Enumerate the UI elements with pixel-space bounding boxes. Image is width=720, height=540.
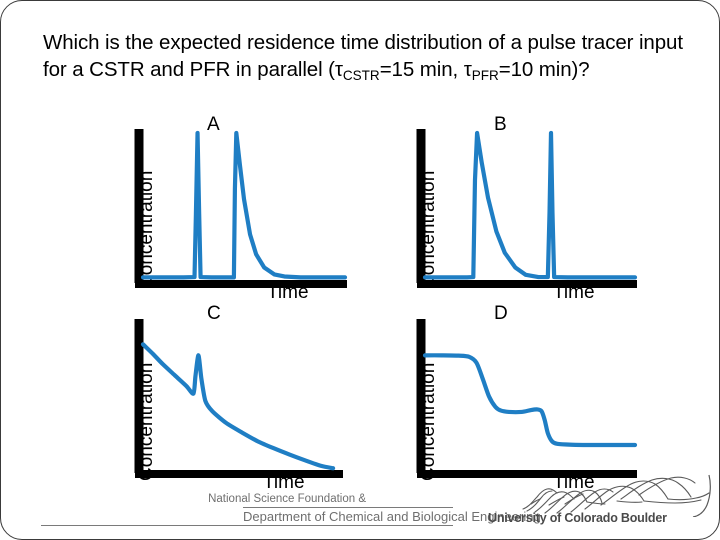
chart-c-svg (133, 317, 349, 483)
footer-rule-bottom (41, 525, 453, 526)
chart-a-curve (143, 133, 345, 277)
chart-b-svg (415, 127, 639, 293)
tau-cstr-subscript: CSTR (343, 68, 380, 83)
tau-pfr-subscript: PFR (472, 68, 499, 83)
tau-cstr-symbol: τ (335, 58, 343, 81)
slide-canvas: Which is the expected residence time dis… (0, 0, 720, 540)
chart-panel-d: D Concentration Time (401, 301, 649, 496)
chart-d-plot-area (415, 317, 639, 483)
chart-c-plot-area (133, 317, 349, 483)
chart-d-curve (425, 355, 635, 445)
chart-panel-c: C Concentration Time (119, 301, 359, 496)
question-text: Which is the expected residence time dis… (43, 29, 688, 85)
chart-b-plot-area (415, 127, 639, 293)
flatirons-mountain-logo-icon (521, 471, 711, 517)
footer-rule-top (243, 507, 453, 508)
tau-pfr-value: =10 min)? (499, 58, 590, 81)
chart-c-curve (143, 344, 333, 468)
chart-panel-b: B Concentration Time (401, 113, 649, 303)
chart-b-curve (425, 133, 635, 277)
tau-pfr-symbol: τ (464, 58, 472, 81)
slide-footer: National Science Foundation & Department… (1, 493, 720, 540)
chart-a-plot-area (133, 127, 349, 293)
chart-panel-a: A Concentration Time (119, 113, 359, 303)
tau-cstr-value: =15 min, (380, 58, 464, 81)
chart-d-svg (415, 317, 639, 483)
chart-a-svg (133, 127, 349, 293)
footer-nsf-text: National Science Foundation & (208, 493, 366, 505)
